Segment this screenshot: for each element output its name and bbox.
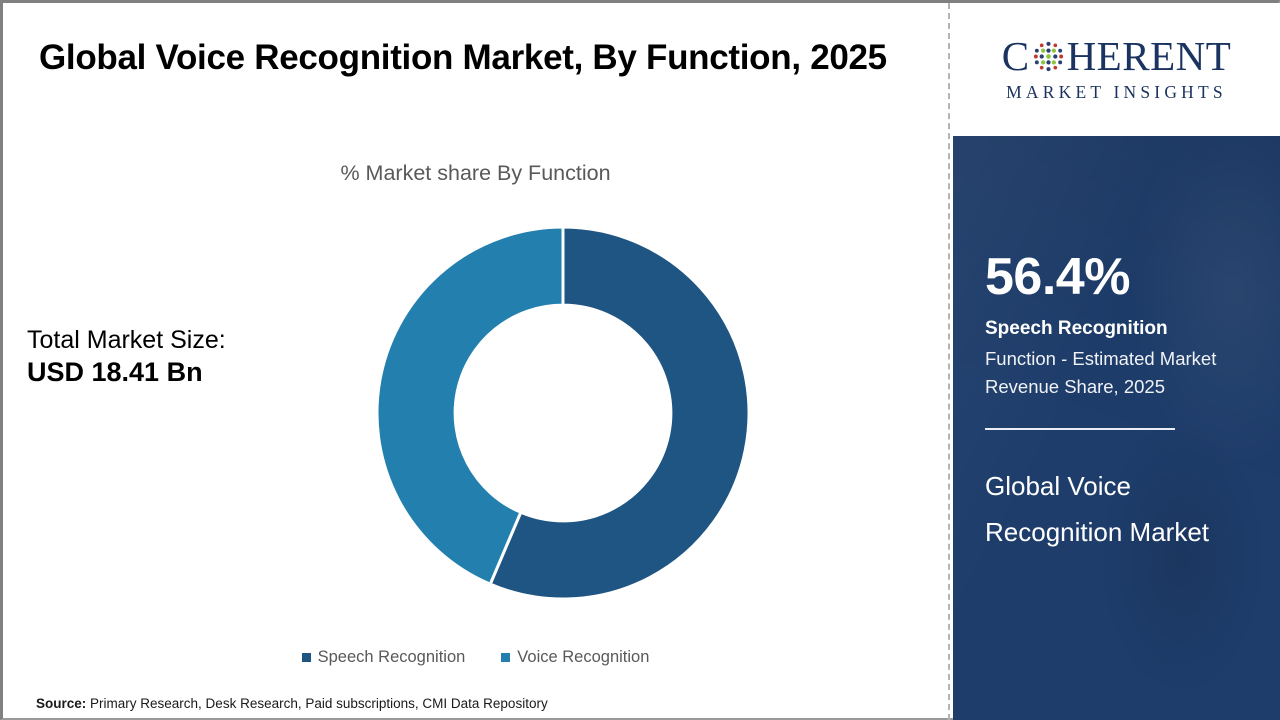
left-content-pane: Global Voice Recognition Market, By Func… [3,3,948,720]
right-column: C [953,3,1280,720]
legend-label-speech-recognition: Speech Recognition [318,648,466,667]
chart-legend: Speech Recognition Voice Recognition [3,648,948,667]
donut-label-voice-recognition: xx.x% [688,606,732,624]
stat-value: 56.4% [985,251,1248,303]
market-size-label: Total Market Size: [27,325,226,356]
legend-item-speech-recognition[interactable]: Speech Recognition [302,648,466,667]
donut-chart: xx.x% 56.4% [377,227,749,599]
logo-word-herent: HERENT [1067,36,1232,77]
source-prefix: Source: [36,696,86,711]
infographic-canvas: Global Voice Recognition Market, By Func… [0,0,1280,720]
logo-wordmark: C [1002,36,1232,77]
market-size-value: USD 18.41 Bn [27,356,226,389]
stat-description: Function - Estimated Market Revenue Shar… [985,345,1248,402]
donut-chart-svg [377,227,749,599]
logo-letter-c: C [1002,36,1030,77]
logo-tagline: MARKET INSIGHTS [1006,82,1227,103]
legend-swatch-icon [501,653,510,662]
panel-divider [985,428,1175,430]
vertical-dashed-divider [948,3,950,720]
highlight-panel-content: 56.4% Speech Recognition Function - Esti… [953,251,1280,555]
panel-brand-title: Global Voice Recognition Market [985,464,1248,555]
stat-name: Speech Recognition [985,317,1248,341]
legend-item-voice-recognition[interactable]: Voice Recognition [501,648,649,667]
page-title: Global Voice Recognition Market, By Func… [39,33,899,83]
legend-label-voice-recognition: Voice Recognition [517,648,649,667]
source-note: Source: Primary Research, Desk Research,… [36,696,548,711]
legend-swatch-icon [302,653,311,662]
globe-dots-icon [1031,39,1066,74]
highlight-panel: 56.4% Speech Recognition Function - Esti… [953,136,1280,720]
company-logo: C [953,3,1280,136]
total-market-size-block: Total Market Size: USD 18.41 Bn [27,325,226,388]
source-text: Primary Research, Desk Research, Paid su… [90,696,548,711]
chart-subtitle: % Market share By Function [3,161,948,186]
